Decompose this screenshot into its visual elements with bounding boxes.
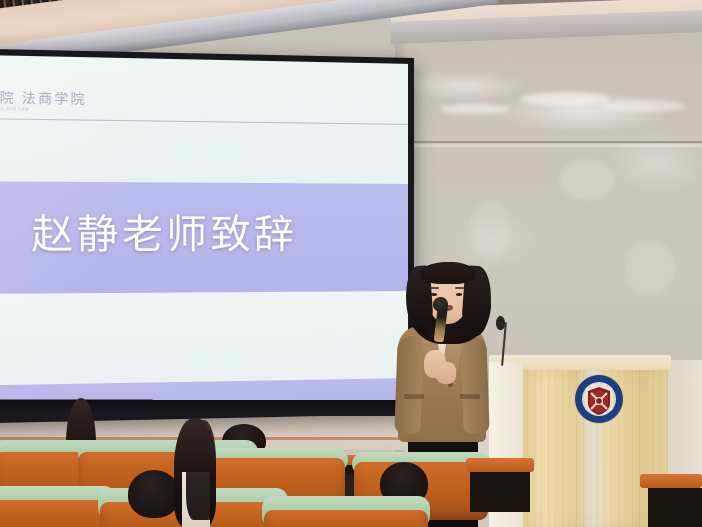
audience-desk-shadow	[648, 488, 702, 527]
speaker-left-arm	[394, 336, 423, 435]
speaker-hand-lower	[436, 362, 456, 384]
speaker-eye-left	[431, 293, 437, 296]
speaker-pocket-right	[460, 394, 480, 399]
speaker-pocket-left	[404, 394, 424, 399]
seat-back	[0, 500, 112, 527]
projected-slide: 商贸学院 法商学院 School of Business and Law 赵静老…	[0, 55, 408, 413]
wall-marble-wisp	[600, 100, 685, 112]
speaker-hair-fringe	[420, 262, 476, 284]
university-crest-icon	[573, 373, 625, 425]
gooseneck-microphone-icon	[496, 316, 505, 330]
audience-desk	[466, 458, 534, 472]
audience-head	[128, 470, 180, 518]
audience-desk-shadow	[470, 472, 530, 512]
projection-screen: 商贸学院 法商学院 School of Business and Law 赵静老…	[0, 48, 414, 423]
wall-marble-wisp	[560, 160, 615, 200]
wall-marble-wisp	[470, 200, 510, 260]
wall-seam-highlight	[405, 144, 702, 147]
wall-marble-wisp	[520, 92, 610, 106]
seat-back	[264, 510, 428, 527]
wall-seam-line	[405, 141, 702, 143]
speaker-brow-left	[430, 287, 439, 289]
wall-marble-wisp	[440, 104, 510, 114]
audience-desk	[640, 474, 702, 488]
wall-marble-wisp	[625, 240, 675, 295]
audience-hair-long	[186, 420, 216, 520]
speaker-right-arm	[460, 336, 489, 435]
speaker-eye-right	[456, 293, 462, 296]
screen-bottom-frame	[0, 400, 408, 417]
speaker-brow-right	[455, 287, 464, 289]
slide-band-light-middle	[0, 291, 408, 386]
slide-title-text: 赵静老师致辞	[31, 203, 297, 262]
auditorium-photo: 商贸学院 法商学院 School of Business and Law 赵静老…	[0, 0, 702, 527]
